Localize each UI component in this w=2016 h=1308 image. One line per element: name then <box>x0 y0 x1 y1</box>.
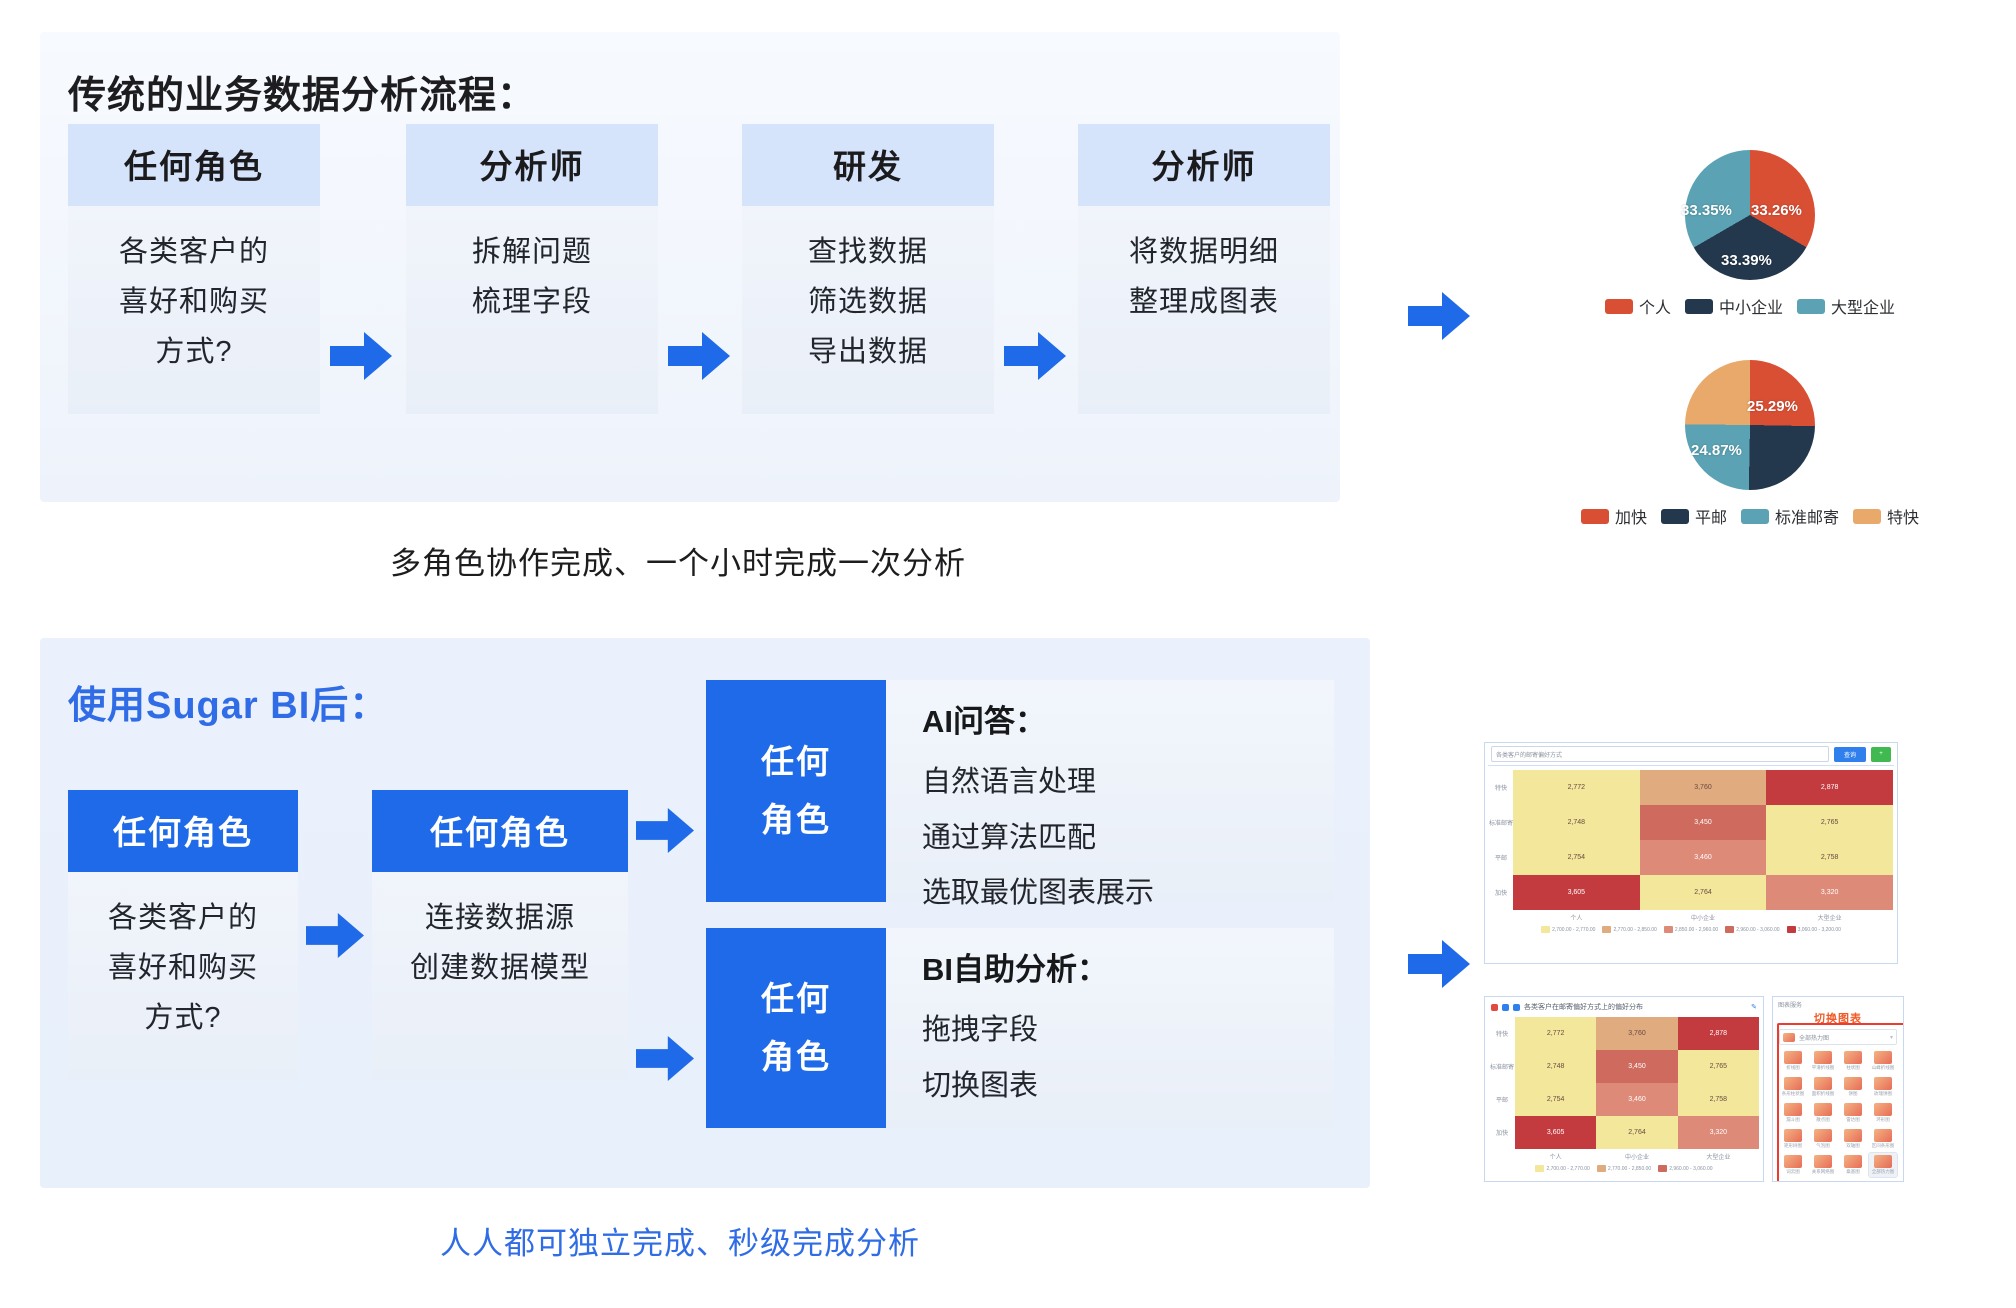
legend-label: 2,700.00 - 2,770.00 <box>1546 1166 1589 1172</box>
heat-cell: 2,765 <box>1766 805 1893 840</box>
picker-chart-type-item[interactable]: 桑基图 <box>1839 1153 1867 1177</box>
picker-chart-type-item[interactable]: 折线图 <box>1779 1049 1807 1073</box>
step-line: 梳理字段 <box>416 278 648 328</box>
sugar-step-1-body: 各类客户的 喜好和购买 方式? <box>68 872 298 1062</box>
sugar-branch-ai-body: AI问答： 自然语言处理 通过算法匹配 选取最优图表展示 <box>886 680 1334 902</box>
picker-chart-type-label: 饼图 <box>1849 1091 1858 1097</box>
picker-chart-type-label: 玫瑰饼图 <box>1874 1091 1892 1097</box>
legend-label: 平邮 <box>1695 504 1727 528</box>
heat-cell: 2,748 <box>1513 805 1640 840</box>
step-line: 喜好和购买 <box>78 278 310 328</box>
screenshot-ai-heatmap[interactable]: 各类客户的邮寄偏好方式 查询 + 特快 标准邮寄 平邮 加快 2,772 3,7… <box>1484 742 1898 964</box>
heat-cell: 2,754 <box>1513 840 1640 875</box>
page-title: 传统的业务数据分析流程： <box>68 64 536 119</box>
heatmap-card-title: 各类客户在邮寄偏好方式上的偏好分布 <box>1524 1002 1747 1012</box>
heatmap-x-axis: 个人 中小企业 大型企业 <box>1515 1149 1759 1161</box>
legend-swatch-standard <box>1741 509 1769 524</box>
sugar-bi-flow-panel: 使用Sugar BI后： 任何角色 各类客户的 喜好和购买 方式? 任何角色 连… <box>40 638 1370 1188</box>
legend-label: 2,850.00 - 2,960.00 <box>1675 927 1718 933</box>
pie-chart-2: 25.29% 24.87% 加快 平邮 标准邮寄 特快 <box>1560 360 1940 528</box>
legend-label: 标准邮寄 <box>1775 504 1839 528</box>
chart-type-icon <box>1844 1155 1862 1168</box>
picker-search-input[interactable]: 全部热力图 ▾ <box>1779 1029 1897 1045</box>
legend-swatch-enterprise <box>1797 299 1825 314</box>
legend-label: 大型企业 <box>1831 294 1895 318</box>
picker-chart-type-label: 气泡图 <box>1816 1143 1830 1149</box>
chart-type-icon <box>1784 1129 1802 1142</box>
legend-item: 2,850.00 - 2,960.00 <box>1664 926 1718 933</box>
picker-chart-type-item[interactable]: 单行指标 <box>1779 1179 1807 1182</box>
sugar-step-2-body: 连接数据源 创建数据模型 <box>372 872 628 1012</box>
traditional-step-3-body: 查找数据 筛选数据 导出数据 <box>742 206 994 396</box>
legend-swatch-priority <box>1853 509 1881 524</box>
picker-chart-type-item[interactable]: 气泡图 <box>1809 1127 1837 1151</box>
legend-item: 2,960.00 - 3,060.00 <box>1658 1165 1712 1172</box>
y-tick: 平邮 <box>1495 853 1507 862</box>
role-line: 任何 <box>761 733 831 791</box>
heat-cell: 3,450 <box>1640 805 1767 840</box>
legend-item: 加快 <box>1581 504 1647 528</box>
chart-type-icon <box>1814 1077 1832 1090</box>
chart-type-icon <box>1874 1103 1892 1116</box>
sugar-branch-ai-role: 任何 角色 <box>706 680 886 902</box>
heat-cell: 3,605 <box>1515 1116 1596 1149</box>
step-line: 方式? <box>78 328 310 378</box>
picker-chart-type-label: 双轴图 <box>1846 1143 1860 1149</box>
legend-item: 平邮 <box>1661 504 1727 528</box>
heat-cell: 2,758 <box>1766 840 1893 875</box>
legend-item: 特快 <box>1853 504 1919 528</box>
step-line: 各类客户的 <box>78 894 288 944</box>
flow-arrow-1 <box>330 332 392 380</box>
chart-type-icon <box>1784 1103 1802 1116</box>
chart-type-icon <box>1784 1155 1802 1168</box>
chart-type-icon <box>1844 1077 1862 1090</box>
picker-chart-type-label: 条形柱状图 <box>1782 1091 1805 1097</box>
picker-chart-type-label: 折线图 <box>1786 1065 1800 1071</box>
picker-chart-type-label: 漏斗图 <box>1786 1117 1800 1123</box>
picker-chart-type-item[interactable]: 柱状图 <box>1839 1049 1867 1073</box>
legend-label: 2,960.00 - 3,060.00 <box>1736 927 1779 933</box>
sugar-step-card-1: 任何角色 各类客户的 喜好和购买 方式? <box>68 790 298 1080</box>
heatmap-legend: 2,700.00 - 2,770.00 2,770.00 - 2,850.00 … <box>1489 922 1893 933</box>
picker-chart-type-item[interactable]: 环形图 <box>1869 1101 1897 1125</box>
branch-line: 自然语言处理 <box>922 755 1334 811</box>
picker-chart-type-item[interactable]: 漏斗图 <box>1779 1101 1807 1125</box>
picker-chart-type-label: 桑基图 <box>1846 1169 1860 1175</box>
step-line: 拆解问题 <box>416 228 648 278</box>
picker-chart-type-item[interactable]: 关系网络图 <box>1809 1153 1837 1177</box>
legend-item: 2,770.00 - 2,850.00 <box>1602 926 1656 933</box>
legend-swatch-individual <box>1605 299 1633 314</box>
heatmap-y-axis: 特快 标准邮寄 平邮 加快 <box>1489 1017 1515 1161</box>
legend-item: 标准邮寄 <box>1741 504 1839 528</box>
y-tick: 加快 <box>1495 888 1507 897</box>
picker-banner: 切换图表 <box>1773 1009 1903 1029</box>
picker-chart-type-label: 山峰折线图 <box>1872 1065 1895 1071</box>
picker-panel-title: 图表服务 <box>1773 997 1903 1009</box>
legend-item: 2,700.00 - 2,770.00 <box>1541 926 1595 933</box>
chart-type-icon <box>1874 1077 1892 1090</box>
legend-label: 3,060.00 - 3,200.00 <box>1798 927 1841 933</box>
step-line: 连接数据源 <box>382 894 618 944</box>
selected-chart-icon <box>1783 1033 1795 1042</box>
chart-type-icon <box>1844 1181 1862 1182</box>
heat-cell: 3,760 <box>1596 1017 1677 1050</box>
sugar-step-1-head: 任何角色 <box>68 790 298 872</box>
heat-cell: 3,605 <box>1513 875 1640 910</box>
chart-type-icon <box>1874 1155 1892 1168</box>
heat-cell: 2,878 <box>1678 1017 1759 1050</box>
sugar-branch-ai-heading: AI问答： <box>922 696 1334 741</box>
traditional-flow-panel: 传统的业务数据分析流程： 任何角色 各类客户的 喜好和购买 方式? 分析师 拆解… <box>40 32 1340 502</box>
heat-cell: 2,754 <box>1515 1083 1596 1116</box>
branch-line: 通过算法匹配 <box>922 811 1334 867</box>
traditional-step-2-head: 分析师 <box>406 124 658 206</box>
flow-arrow-to-screenshots <box>1408 940 1470 988</box>
legend-label: 个人 <box>1639 294 1671 318</box>
role-line: 角色 <box>761 791 831 849</box>
pie-chart-1-value-0: 33.26% <box>1751 202 1802 219</box>
step-line: 创建数据模型 <box>382 944 618 994</box>
sugar-step-card-2: 任何角色 连接数据源 创建数据模型 <box>372 790 628 1080</box>
y-tick: 特快 <box>1495 783 1507 792</box>
sugar-branch-ai: 任何 角色 AI问答： 自然语言处理 通过算法匹配 选取最优图表展示 <box>706 680 1334 902</box>
traditional-step-4-head: 分析师 <box>1078 124 1330 206</box>
heat-cell: 3,450 <box>1596 1050 1677 1083</box>
heat-cell: 2,772 <box>1513 770 1640 805</box>
traditional-step-4-body: 将数据明细 整理成图表 <box>1078 206 1330 346</box>
picker-chart-type-label: 词云图 <box>1786 1169 1800 1175</box>
step-line: 方式? <box>78 994 288 1044</box>
heat-cell: 3,760 <box>1640 770 1767 805</box>
sugar-caption: 人人都可独立完成、秒级完成分析 <box>440 1218 920 1263</box>
x-tick: 大型企业 <box>1706 1152 1730 1161</box>
traditional-step-1-body: 各类客户的 喜好和购买 方式? <box>68 206 320 396</box>
picker-chart-type-item[interactable]: 面积折线图 <box>1809 1075 1837 1099</box>
branch-line: 拖拽字段 <box>922 1003 1334 1059</box>
step-line: 查找数据 <box>752 228 984 278</box>
picker-chart-type-item[interactable]: 区间条形图 <box>1869 1127 1897 1151</box>
picker-chart-grid: 折线图平滑折线图柱状图山峰折线图条形柱状图面积折线图饼图玫瑰饼图漏斗图散点图雷达… <box>1773 1049 1903 1182</box>
legend-item: 2,700.00 - 2,770.00 <box>1535 1165 1589 1172</box>
legend-item: 2,960.00 - 3,060.00 <box>1725 926 1779 933</box>
heat-cell: 2,765 <box>1678 1050 1759 1083</box>
sugar-branch-bi-body: BI自助分析： 拖拽字段 切换图表 <box>886 928 1334 1128</box>
chevron-down-icon[interactable]: ▾ <box>1890 1034 1893 1041</box>
chart-type-icon <box>1784 1051 1802 1064</box>
sugar-branch-arrow-bi <box>636 1036 694 1081</box>
legend-swatch-postal <box>1661 509 1689 524</box>
step-line: 各类客户的 <box>78 228 310 278</box>
picker-chart-type-label: 柱状图 <box>1846 1065 1860 1071</box>
chart-type-icon <box>1814 1103 1832 1116</box>
legend-item: 3,060.00 - 3,200.00 <box>1787 926 1841 933</box>
screenshot-bi-heatmap[interactable]: 各类客户在邮寄偏好方式上的偏好分布 ✎ 特快 标准邮寄 平邮 加快 2,772 … <box>1484 996 1764 1182</box>
traditional-step-card-4: 分析师 将数据明细 整理成图表 <box>1078 124 1330 414</box>
y-tick: 标准邮寄 <box>1489 818 1513 827</box>
screenshot-chart-type-picker[interactable]: 图表服务 切换图表 全部热力图 ▾ 折线图平滑折线图柱状图山峰折线图条形柱状图面… <box>1772 996 1904 1182</box>
role-line: 任何 <box>761 970 831 1028</box>
picker-chart-type-item[interactable]: 雷达图 <box>1839 1101 1867 1125</box>
y-tick: 加快 <box>1496 1128 1508 1137</box>
search-input[interactable]: 各类客户的邮寄偏好方式 <box>1491 746 1829 762</box>
role-line: 角色 <box>761 1028 831 1086</box>
sugar-branch-arrow-ai <box>636 808 694 853</box>
heat-cell: 3,320 <box>1766 875 1893 910</box>
picker-chart-type-label: 雷达图 <box>1846 1117 1860 1123</box>
picker-chart-type-item[interactable]: 双轴图 <box>1839 1127 1867 1151</box>
legend-item: 2,770.00 - 2,850.00 <box>1597 1165 1651 1172</box>
picker-chart-type-item[interactable]: 词云图 <box>1779 1153 1807 1177</box>
chart-type-icon <box>1874 1051 1892 1064</box>
pie-chart-2-value-2: 24.87% <box>1691 442 1742 459</box>
heatmap-chart-bottom: 特快 标准邮寄 平邮 加快 2,772 3,760 2,878 2,748 3,… <box>1485 1017 1763 1174</box>
heatmap-chart-top: 特快 标准邮寄 平邮 加快 2,772 3,760 2,878 2,748 3,… <box>1485 766 1897 935</box>
heat-cell: 2,878 <box>1766 770 1893 805</box>
add-button[interactable]: + <box>1871 747 1891 762</box>
picker-chart-type-item[interactable]: 表格 <box>1869 1179 1897 1182</box>
pie-chart-2-legend: 加快 平邮 标准邮寄 特快 <box>1560 504 1940 528</box>
step-line: 喜好和购买 <box>78 944 288 994</box>
flow-arrow-to-charts <box>1408 292 1470 340</box>
picker-chart-type-item[interactable]: 数字翻牌器 <box>1839 1179 1867 1182</box>
chart-type-icon <box>1814 1181 1832 1182</box>
picker-chart-type-item[interactable]: 山峰折线图 <box>1869 1049 1897 1073</box>
legend-item: 个人 <box>1605 294 1671 318</box>
heat-cell: 2,764 <box>1640 875 1767 910</box>
legend-label: 2,770.00 - 2,850.00 <box>1613 927 1656 933</box>
pencil-icon[interactable]: ✎ <box>1751 1003 1757 1011</box>
step-line: 将数据明细 <box>1088 228 1320 278</box>
heatmap-y-axis: 特快 标准邮寄 平邮 加快 <box>1489 770 1513 922</box>
legend-swatch-sme <box>1685 299 1713 314</box>
traditional-step-card-1: 任何角色 各类客户的 喜好和购买 方式? <box>68 124 320 414</box>
step-line: 筛选数据 <box>752 278 984 328</box>
heatmap-search-toolbar: 各类客户的邮寄偏好方式 查询 + <box>1485 743 1897 765</box>
y-tick: 平邮 <box>1496 1095 1508 1104</box>
x-tick: 大型企业 <box>1818 913 1842 922</box>
legend-label: 2,770.00 - 2,850.00 <box>1608 1166 1651 1172</box>
traditional-step-card-2: 分析师 拆解问题 梳理字段 <box>406 124 658 414</box>
legend-item: 中小企业 <box>1685 294 1783 318</box>
legend-label: 2,700.00 - 2,770.00 <box>1552 927 1595 933</box>
heatmap-card-header: 各类客户在邮寄偏好方式上的偏好分布 ✎ <box>1485 997 1763 1017</box>
blue-dot-icon <box>1502 1004 1509 1011</box>
picker-chart-type-label: 区间条形图 <box>1872 1143 1895 1149</box>
sugar-branch-bi-role: 任何 角色 <box>706 928 886 1128</box>
sugar-branch-bi-heading: BI自助分析： <box>922 944 1334 989</box>
infographic-canvas: 传统的业务数据分析流程： 任何角色 各类客户的 喜好和购买 方式? 分析师 拆解… <box>0 0 2016 1308</box>
flow-arrow-2 <box>668 332 730 380</box>
pie-chart-1-value-2: 33.35% <box>1681 202 1732 219</box>
chart-type-icon <box>1844 1129 1862 1142</box>
search-input-value: 各类客户的邮寄偏好方式 <box>1496 750 1562 759</box>
traditional-caption: 多角色协作完成、一个小时完成一次分析 <box>390 538 966 583</box>
heat-cell: 3,320 <box>1678 1116 1759 1149</box>
pie-chart-2-circle <box>1685 360 1815 490</box>
step-line: 导出数据 <box>752 328 984 378</box>
legend-label: 中小企业 <box>1719 294 1783 318</box>
picker-chart-type-item[interactable]: 散点图 <box>1809 1101 1837 1125</box>
heatmap-cells: 2,772 3,760 2,878 2,748 3,450 2,765 2,75… <box>1515 1017 1759 1149</box>
picker-chart-type-item[interactable]: 玫瑰饼图 <box>1869 1075 1897 1099</box>
picker-chart-type-item[interactable]: 多行指标 <box>1809 1179 1837 1182</box>
picker-chart-type-label: 面积折线图 <box>1812 1091 1835 1097</box>
heat-cell: 3,460 <box>1640 840 1767 875</box>
heat-cell: 3,460 <box>1596 1083 1677 1116</box>
heatmap-x-axis: 个人 中小企业 大型企业 <box>1513 910 1893 922</box>
pie-chart-2-value-0: 25.29% <box>1747 398 1798 415</box>
query-button[interactable]: 查询 <box>1834 747 1866 762</box>
chart-type-icon <box>1784 1077 1802 1090</box>
chart-type-icon <box>1814 1051 1832 1064</box>
legend-swatch-express <box>1581 509 1609 524</box>
pie-chart-1-legend: 个人 中小企业 大型企业 <box>1560 294 1940 318</box>
picker-selected-label: 全部热力图 <box>1799 1033 1829 1042</box>
red-dot-icon <box>1491 1004 1498 1011</box>
branch-line: 切换图表 <box>922 1059 1334 1115</box>
picker-chart-type-label: 关系网络图 <box>1812 1169 1835 1175</box>
branch-line: 选取最优图表展示 <box>922 866 1334 922</box>
sugar-branch-bi: 任何 角色 BI自助分析： 拖拽字段 切换图表 <box>706 928 1334 1128</box>
y-tick: 特快 <box>1496 1029 1508 1038</box>
x-tick: 中小企业 <box>1691 913 1715 922</box>
heat-cell: 2,772 <box>1515 1017 1596 1050</box>
chart-type-icon <box>1814 1129 1832 1142</box>
sugar-flow-arrow-1 <box>306 913 364 958</box>
chart-type-icon <box>1814 1155 1832 1168</box>
picker-chart-type-item[interactable]: 全部热力图 <box>1869 1153 1897 1177</box>
pie-chart-1-value-1: 33.39% <box>1721 252 1772 269</box>
x-tick: 中小企业 <box>1625 1152 1649 1161</box>
chart-type-icon <box>1844 1051 1862 1064</box>
legend-item: 大型企业 <box>1797 294 1895 318</box>
heat-cell: 2,758 <box>1678 1083 1759 1116</box>
picker-chart-type-label: 矩形树图 <box>1784 1143 1802 1149</box>
traditional-step-3-head: 研发 <box>742 124 994 206</box>
step-line: 整理成图表 <box>1088 278 1320 328</box>
heat-cell: 2,764 <box>1596 1116 1677 1149</box>
picker-chart-type-item[interactable]: 饼图 <box>1839 1075 1867 1099</box>
y-tick: 标准邮寄 <box>1490 1062 1514 1071</box>
legend-label: 特快 <box>1887 504 1919 528</box>
sugar-step-2-head: 任何角色 <box>372 790 628 872</box>
heatmap-legend: 2,700.00 - 2,770.00 2,770.00 - 2,850.00 … <box>1489 1161 1759 1172</box>
heat-cell: 2,748 <box>1515 1050 1596 1083</box>
pie-chart-1: 33.26% 33.39% 33.35% 个人 中小企业 大型企业 <box>1560 150 1940 318</box>
flow-arrow-3 <box>1004 332 1066 380</box>
heatmap-cells: 2,772 3,760 2,878 2,748 3,450 2,765 2,75… <box>1513 770 1893 910</box>
chart-type-icon <box>1874 1181 1892 1182</box>
legend-label: 加快 <box>1615 504 1647 528</box>
traditional-step-2-body: 拆解问题 梳理字段 <box>406 206 658 346</box>
chart-type-icon <box>1874 1129 1892 1142</box>
picker-chart-type-item[interactable]: 条形柱状图 <box>1779 1075 1807 1099</box>
traditional-step-1-head: 任何角色 <box>68 124 320 206</box>
picker-chart-type-label: 环形图 <box>1876 1117 1890 1123</box>
picker-chart-type-item[interactable]: 矩形树图 <box>1779 1127 1807 1151</box>
picker-chart-type-label: 平滑折线图 <box>1812 1065 1835 1071</box>
chart-type-icon <box>1844 1103 1862 1116</box>
x-tick: 个人 <box>1570 913 1582 922</box>
close-icon <box>1513 1004 1520 1011</box>
chart-type-icon <box>1784 1181 1802 1182</box>
picker-chart-type-label: 全部热力图 <box>1872 1169 1895 1175</box>
picker-chart-type-label: 散点图 <box>1816 1117 1830 1123</box>
traditional-step-card-3: 研发 查找数据 筛选数据 导出数据 <box>742 124 994 414</box>
sugar-panel-title: 使用Sugar BI后： <box>68 674 388 729</box>
x-tick: 个人 <box>1550 1152 1562 1161</box>
legend-label: 2,960.00 - 3,060.00 <box>1669 1166 1712 1172</box>
picker-chart-type-item[interactable]: 平滑折线图 <box>1809 1049 1837 1073</box>
